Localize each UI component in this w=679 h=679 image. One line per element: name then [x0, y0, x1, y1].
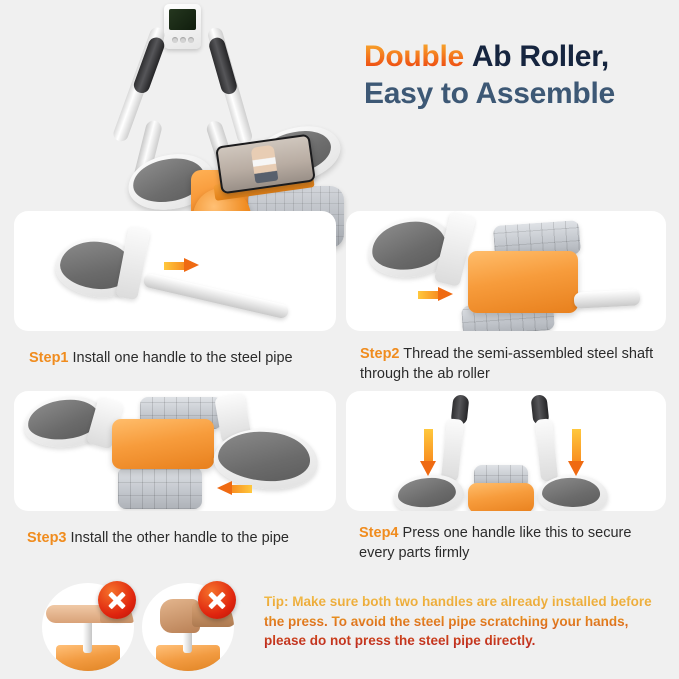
- step1-steel-pipe: [142, 273, 289, 320]
- tip-text: Tip: Make sure both two handles are alre…: [264, 592, 674, 651]
- title-line2: Easy to Assemble: [364, 77, 615, 110]
- step-number-3: Step3: [27, 530, 67, 546]
- step-text-3: Install the other handle to the pipe: [67, 530, 290, 546]
- step4-roller-body: [468, 483, 534, 511]
- step-card-2: [346, 211, 666, 331]
- step-text-1: Install one handle to the steel pipe: [69, 350, 293, 366]
- workout-video-figure: [250, 144, 279, 184]
- step-card-4: [346, 391, 666, 511]
- step3-arrow-left-icon: [214, 481, 252, 496]
- counter-button-right: [188, 37, 194, 43]
- step2-roller-body: [468, 251, 578, 313]
- step2-arrow-right-icon: [418, 287, 456, 302]
- step3-wheel-bottom: [118, 467, 202, 509]
- page-title: Double Ab Roller, Easy to Assemble: [364, 38, 669, 112]
- step-caption-3: Step3 Install the other handle to the pi…: [27, 529, 337, 549]
- digital-counter-display: [164, 4, 201, 49]
- x-mark-icon-1: [98, 581, 136, 619]
- step-caption-4: Step4 Press one handle like this to secu…: [359, 524, 669, 563]
- step4-arm-left: [441, 418, 464, 481]
- step-card-1: [14, 211, 336, 331]
- foam-grip-right: [207, 36, 238, 96]
- hero-section: Double Ab Roller, Easy to Assemble: [0, 0, 679, 205]
- step2-steel-shaft: [574, 289, 641, 308]
- step-text-2: Thread the semi-assembled steel shaft th…: [360, 346, 653, 382]
- step-number-4: Step4: [359, 525, 399, 541]
- step-caption-1: Step1 Install one handle to the steel pi…: [29, 349, 339, 369]
- step-caption-2: Step2 Thread the semi-assembled steel sh…: [360, 345, 670, 384]
- step3-roller-body: [112, 419, 214, 469]
- step1-handle-neck: [115, 226, 150, 301]
- title-line1-rest: Ab Roller,: [472, 40, 609, 73]
- step4-elbow-pad-left: [393, 473, 465, 511]
- step-number-2: Step2: [360, 346, 400, 362]
- step1-arrow-right-icon: [164, 258, 202, 273]
- counter-button-left: [172, 37, 178, 43]
- step4-arm-right: [535, 418, 558, 481]
- x-mark-icon-2: [198, 581, 236, 619]
- step-number-1: Step1: [29, 350, 69, 366]
- title-highlight-word: Double: [364, 40, 464, 73]
- counter-button-mid: [180, 37, 186, 43]
- step-card-3: [14, 391, 336, 511]
- step-text-4: Press one handle like this to secure eve…: [359, 525, 631, 561]
- lcd-screen: [169, 9, 196, 30]
